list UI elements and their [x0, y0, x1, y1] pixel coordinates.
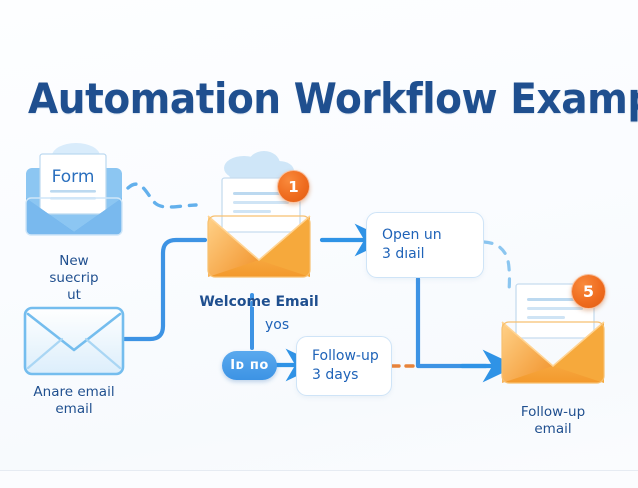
node-plain-envelope[interactable]: Anare email email [22, 305, 126, 418]
closed-envelope-icon [22, 305, 126, 377]
edge-label-yes: yos [265, 317, 289, 333]
open-envelope-orange-icon-2: 5 [490, 278, 616, 396]
dashed-connector-form-to-welcome [128, 184, 196, 207]
open-rate-text: Open un 3 dıail [382, 226, 442, 264]
decision-pill-label: Iᴅ ᴨo [230, 358, 269, 373]
welcome-email-caption: Welcome Email [196, 294, 322, 311]
followup-email-badge: 5 [571, 274, 606, 309]
node-welcome-email[interactable]: 1 Welcome Email [196, 148, 322, 311]
node-followup-email[interactable]: 5 Follow-up email [490, 278, 616, 438]
plain-envelope-caption: Anare email email [22, 384, 126, 418]
step-box-followup-delay[interactable]: Follow-up 3 days [296, 336, 392, 396]
decision-pill[interactable]: Iᴅ ᴨo [222, 351, 277, 380]
step-box-open-rate[interactable]: Open un 3 dıail [366, 212, 484, 278]
followup-delay-text: Follow-up 3 days [312, 347, 379, 385]
followup-email-caption: Follow-up email [490, 404, 616, 438]
workflow-canvas: Automation Workflow Example [0, 0, 638, 488]
form-card-label: Form [52, 167, 95, 187]
open-envelope-orange-icon: 1 [196, 148, 322, 290]
form-envelope-caption: New suecrip ut [14, 253, 134, 304]
elbow-connector-openrate-to-followup-email [418, 279, 486, 366]
node-form-envelope[interactable]: Form New suecrip ut [14, 142, 134, 304]
elbow-connector-plain-to-welcome [125, 240, 205, 339]
welcome-email-badge: 1 [277, 170, 310, 203]
open-envelope-blue-icon: Form [14, 142, 134, 247]
bottom-strip [0, 471, 638, 488]
